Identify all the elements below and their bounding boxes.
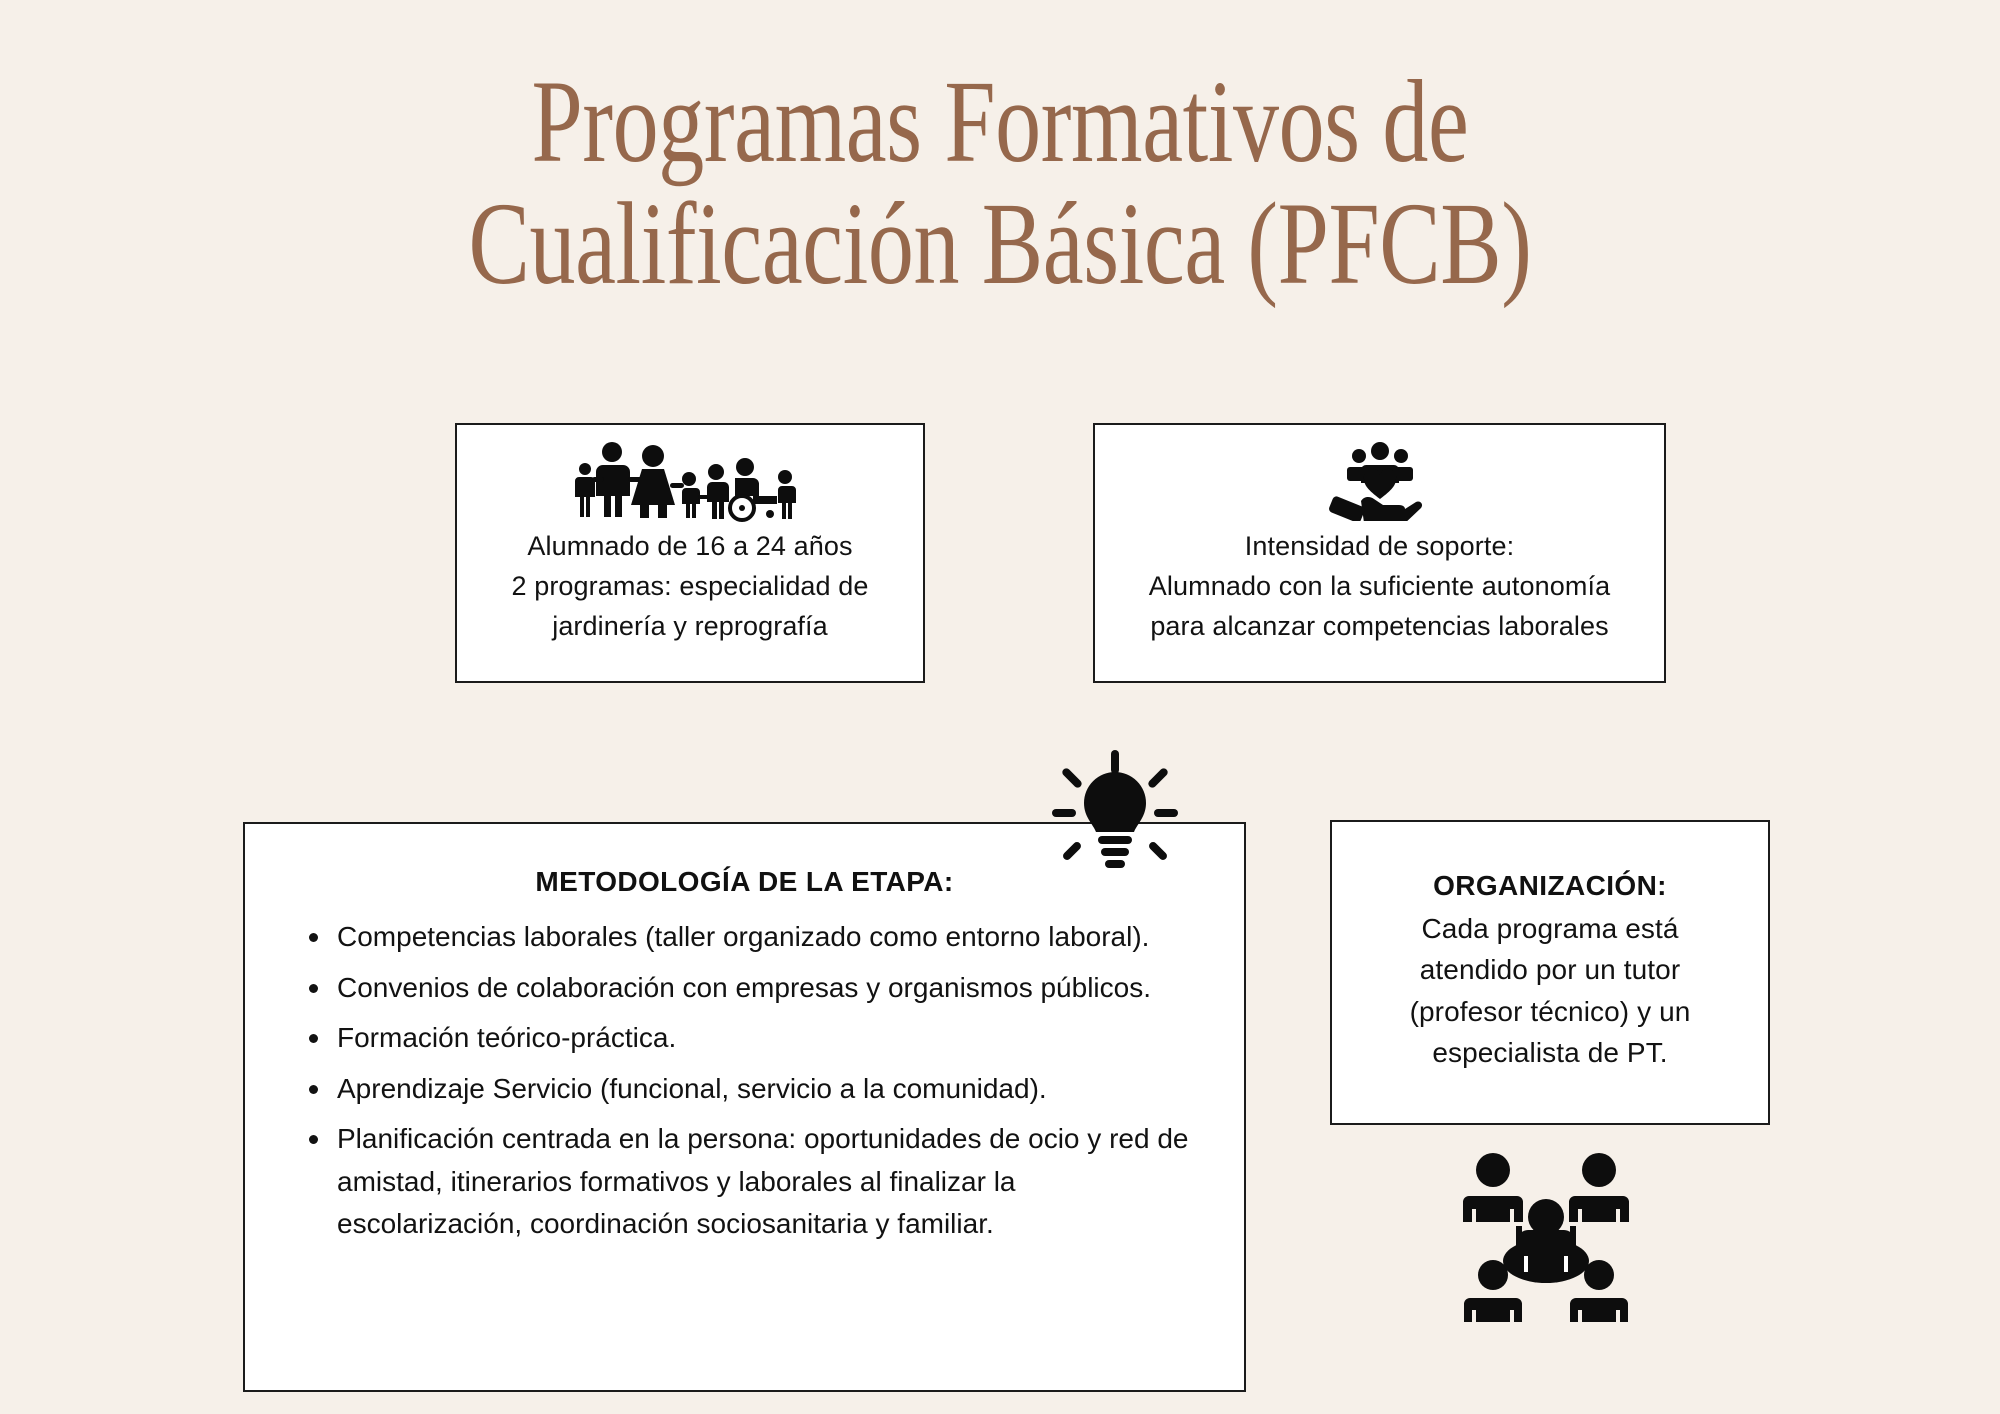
lightbulb-icon-wrap (1050, 748, 1180, 878)
group-of-people-icon-wrap (457, 439, 923, 523)
card-metodologia: METODOLOGÍA DE LA ETAPA: Competencias la… (243, 822, 1246, 1392)
card-organizacion: ORGANIZACIÓN: Cada programa está atendid… (1330, 820, 1770, 1125)
lightbulb-icon (1050, 748, 1180, 878)
page-title-line-1: Programas Formativos de (220, 62, 1780, 182)
card-soporte-line-1: Intensidad de soporte: (1105, 527, 1654, 567)
list-item: Convenios de colaboración con empresas y… (301, 967, 1202, 1010)
card-soporte: Intensidad de soporte: Alumnado con la s… (1093, 423, 1666, 683)
organizacion-heading: ORGANIZACIÓN: (1332, 870, 1768, 902)
poster-canvas: Programas Formativos de Cualificación Bá… (0, 0, 2000, 1414)
card-organizacion-line-3: (profesor técnico) y un (1358, 991, 1742, 1032)
card-soporte-text: Intensidad de soporte: Alumnado con la s… (1095, 527, 1664, 647)
list-item: Aprendizaje Servicio (funcional, servici… (301, 1068, 1202, 1111)
card-organizacion-line-1: Cada programa está (1358, 908, 1742, 949)
hand-holding-heart-people-icon (1328, 441, 1432, 521)
meeting-table-icon (1455, 1148, 1637, 1330)
page-title: Programas Formativos de Cualificación Bá… (0, 62, 2000, 305)
metodologia-bullet-list: Competencias laborales (taller organizad… (245, 916, 1244, 1246)
card-soporte-line-2: Alumnado con la suficiente autonomía (1105, 567, 1654, 607)
card-alumnado-line-2: 2 programas: especialidad de (471, 567, 909, 607)
hand-holding-heart-people-icon-wrap (1095, 441, 1664, 523)
group-of-people-icon (570, 439, 810, 523)
meeting-table-icon-wrap (1455, 1148, 1637, 1330)
card-alumnado-line-1: Alumnado de 16 a 24 años (471, 527, 909, 567)
card-soporte-line-3: para alcanzar competencias laborales (1105, 607, 1654, 647)
list-item: Competencias laborales (taller organizad… (301, 916, 1202, 959)
card-alumnado-line-3: jardinería y reprografía (471, 607, 909, 647)
list-item: Planificación centrada en la persona: op… (301, 1118, 1202, 1246)
card-organizacion-text: Cada programa está atendido por un tutor… (1332, 908, 1768, 1074)
card-organizacion-line-2: atendido por un tutor (1358, 949, 1742, 990)
page-title-line-2: Cualificación Básica (PFCB) (220, 184, 1780, 304)
card-organizacion-line-4: especialista de PT. (1358, 1032, 1742, 1073)
card-alumnado: Alumnado de 16 a 24 años 2 programas: es… (455, 423, 925, 683)
card-alumnado-text: Alumnado de 16 a 24 años 2 programas: es… (457, 527, 923, 647)
list-item: Formación teórico-práctica. (301, 1017, 1202, 1060)
